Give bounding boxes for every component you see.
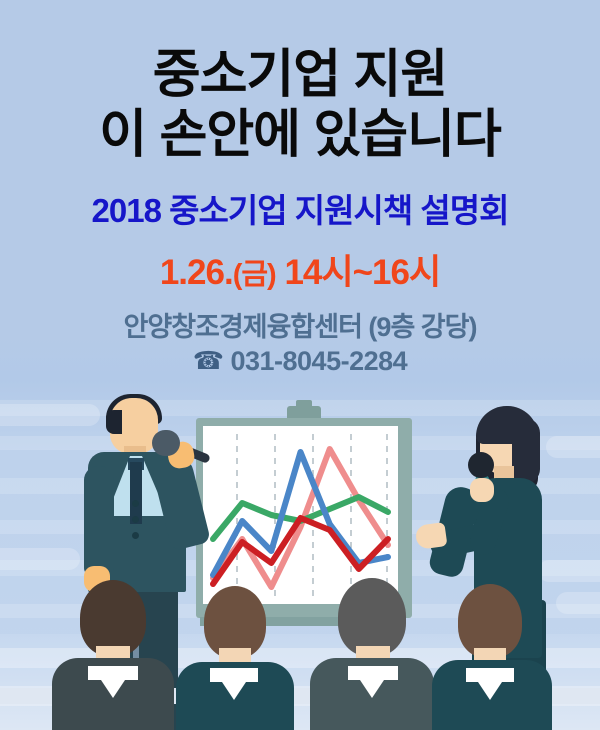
audience-collar <box>466 668 514 682</box>
headline-line-2: 이 손안에 있습니다 <box>0 106 600 164</box>
contact-phone-row: ☎ 031-8045-2284 <box>0 346 600 377</box>
audience-head <box>458 584 522 658</box>
audience-collar-v <box>101 680 125 698</box>
event-time: 14시~16시 <box>284 253 440 292</box>
event-subtitle: 2018 중소기업 지원시책 설명회 <box>0 184 600 232</box>
chart-series-blue <box>213 452 388 575</box>
female-microphone-head <box>468 452 494 478</box>
event-day-of-week: (금) <box>233 259 276 291</box>
event-venue: 안양창조경제융합센터 (9층 강당) <box>0 305 600 344</box>
female-hair-side <box>512 418 540 484</box>
event-datetime: 1.26.(금) 14시~16시 <box>0 244 600 295</box>
poster-text-block: 중소기업 지원 이 손안에 있습니다 2018 중소기업 지원시책 설명회 1.… <box>0 0 600 377</box>
male-microphone-head <box>152 430 180 456</box>
telephone-icon: ☎ <box>193 349 224 374</box>
male-tie <box>130 462 142 524</box>
audience-collar <box>210 668 258 682</box>
audience-collar <box>88 666 138 680</box>
audience-collar <box>348 666 398 680</box>
audience-head <box>80 580 146 656</box>
audience-collar-v <box>478 682 502 700</box>
audience-collar-v <box>360 680 384 698</box>
female-hand-microphone <box>470 478 494 502</box>
contact-phone-number: 031-8045-2284 <box>230 346 407 377</box>
female-hand-pointing <box>414 522 447 550</box>
poster-root: 중소기업 지원 이 손안에 있습니다 2018 중소기업 지원시책 설명회 1.… <box>0 0 600 730</box>
headline-line-1: 중소기업 지원 <box>0 0 600 104</box>
male-jacket-buttons <box>132 500 139 507</box>
event-date: 1.26. <box>160 253 233 292</box>
audience-collar-v <box>222 682 246 700</box>
male-arm-left <box>84 466 114 576</box>
male-hair-side <box>106 410 122 434</box>
audience-head <box>338 578 406 656</box>
